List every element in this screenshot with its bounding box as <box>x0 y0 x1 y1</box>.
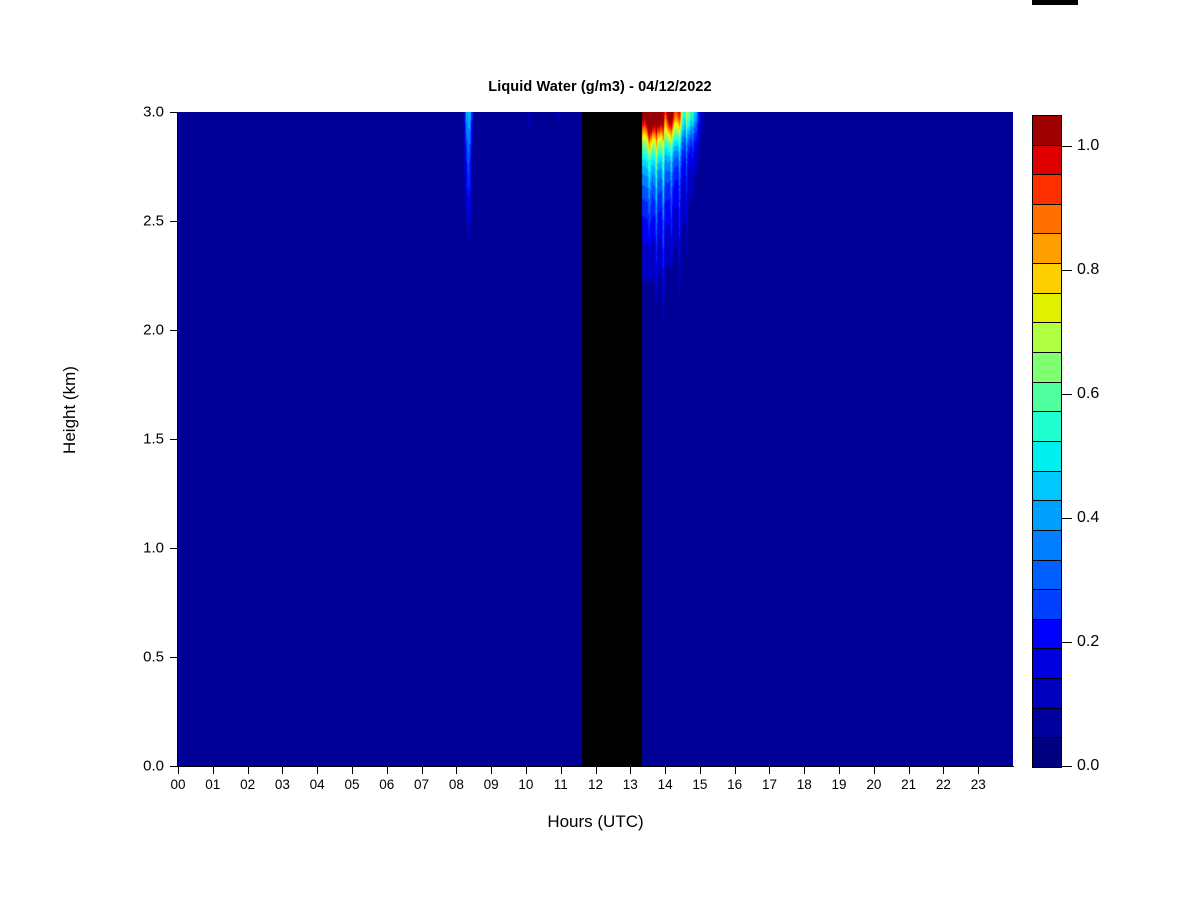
colorbar-band <box>1033 116 1061 145</box>
x-tick-label: 02 <box>240 777 255 792</box>
y-tick-label: 0.5 <box>143 649 164 666</box>
y-tick <box>170 657 177 658</box>
x-tick-label: 23 <box>971 777 986 792</box>
colorbar-tick <box>1062 270 1072 271</box>
x-tick-label: 07 <box>414 777 429 792</box>
colorbar-band <box>1033 619 1061 649</box>
x-tick <box>804 767 805 774</box>
colorbar-tick <box>1062 766 1072 767</box>
x-tick <box>839 767 840 774</box>
colorbar-band <box>1033 441 1061 471</box>
colorbar-band <box>1033 648 1061 678</box>
colorbar-tick-label: 0.6 <box>1077 385 1099 403</box>
colorbar-band <box>1033 678 1061 708</box>
x-tick <box>352 767 353 774</box>
colorbar-band <box>1033 233 1061 263</box>
x-tick <box>665 767 666 774</box>
x-tick-label: 03 <box>275 777 290 792</box>
x-tick <box>317 767 318 774</box>
x-tick <box>978 767 979 774</box>
colorbar-band <box>1033 263 1061 293</box>
x-tick <box>491 767 492 774</box>
colorbar-tick-label: 1.0 <box>1077 137 1099 155</box>
x-tick-label: 15 <box>692 777 707 792</box>
colorbar-band <box>1033 411 1061 441</box>
x-tick <box>387 767 388 774</box>
y-tick <box>170 766 177 767</box>
liquid-water-heatmap-figure: Liquid Water (g/m3) - 04/12/2022 0.00.51… <box>0 0 1200 900</box>
colorbar-tick <box>1062 146 1072 147</box>
x-tick <box>526 767 527 774</box>
x-tick-label: 21 <box>901 777 916 792</box>
x-tick <box>769 767 770 774</box>
x-tick-label: 08 <box>449 777 464 792</box>
colorbar-tick-label: 0.8 <box>1077 261 1099 279</box>
x-tick-label: 18 <box>797 777 812 792</box>
y-tick-label: 2.0 <box>143 322 164 339</box>
x-tick-label: 14 <box>658 777 673 792</box>
colorbar-tick <box>1062 394 1072 395</box>
x-tick <box>909 767 910 774</box>
x-tick <box>282 767 283 774</box>
x-tick-label: 05 <box>344 777 359 792</box>
y-tick <box>170 330 177 331</box>
y-tick-label: 2.5 <box>143 213 164 230</box>
colorbar-tick-label: 0.2 <box>1077 633 1099 651</box>
colorbar-band <box>1033 174 1061 204</box>
x-tick <box>422 767 423 774</box>
colorbar-band <box>1033 145 1061 175</box>
y-tick-label: 1.0 <box>143 540 164 557</box>
colorbar-band <box>1033 382 1061 412</box>
y-tick <box>170 439 177 440</box>
x-tick <box>700 767 701 774</box>
heatmap-canvas <box>178 112 1013 766</box>
x-tick <box>596 767 597 774</box>
y-tick-label: 3.0 <box>143 104 164 121</box>
x-tick-label: 16 <box>727 777 742 792</box>
x-tick-label: 12 <box>588 777 603 792</box>
colorbar-band <box>1033 737 1061 767</box>
x-tick-label: 00 <box>170 777 185 792</box>
x-tick <box>943 767 944 774</box>
y-tick-label: 0.0 <box>143 758 164 775</box>
x-tick <box>178 767 179 774</box>
x-tick-label: 17 <box>762 777 777 792</box>
x-tick <box>630 767 631 774</box>
colorbar-tick <box>1062 642 1072 643</box>
x-tick <box>874 767 875 774</box>
x-tick-label: 09 <box>484 777 499 792</box>
colorbar-band <box>1033 530 1061 560</box>
page-title: Liquid Water (g/m3) - 04/12/2022 <box>0 79 1200 95</box>
colorbar-tick-label: 0.0 <box>1077 757 1099 775</box>
colorbar-band <box>1033 500 1061 530</box>
x-tick <box>456 767 457 774</box>
x-tick-label: 11 <box>554 777 568 792</box>
colorbar-tick-label: 0.4 <box>1077 509 1099 527</box>
y-tick <box>170 548 177 549</box>
y-axis-title: Height (km) <box>60 310 80 510</box>
colorbar-band <box>1033 708 1061 738</box>
colorbar-tick <box>1062 518 1072 519</box>
x-tick-label: 19 <box>832 777 847 792</box>
plot-area <box>178 112 1013 766</box>
x-tick-label: 13 <box>623 777 638 792</box>
x-tick <box>248 767 249 774</box>
x-tick-label: 22 <box>936 777 951 792</box>
colorbar-band <box>1033 471 1061 501</box>
colorbar-band <box>1033 293 1061 323</box>
x-tick-label: 04 <box>310 777 325 792</box>
x-axis-title: Hours (UTC) <box>178 812 1013 832</box>
colorbar-band <box>1033 589 1061 619</box>
x-tick-label: 06 <box>379 777 394 792</box>
colorbar-band <box>1033 352 1061 382</box>
colorbar[interactable] <box>1032 115 1062 768</box>
x-tick <box>213 767 214 774</box>
x-tick-label: 01 <box>205 777 220 792</box>
x-tick <box>735 767 736 774</box>
colorbar-band <box>1033 560 1061 590</box>
colorbar-band <box>1033 204 1061 234</box>
x-tick <box>561 767 562 774</box>
y-tick-label: 1.5 <box>143 431 164 448</box>
x-tick-label: 10 <box>518 777 533 792</box>
y-tick <box>170 221 177 222</box>
colorbar-band <box>1033 322 1061 352</box>
y-axis-line <box>177 112 178 767</box>
x-tick-label: 20 <box>866 777 881 792</box>
y-tick <box>170 112 177 113</box>
